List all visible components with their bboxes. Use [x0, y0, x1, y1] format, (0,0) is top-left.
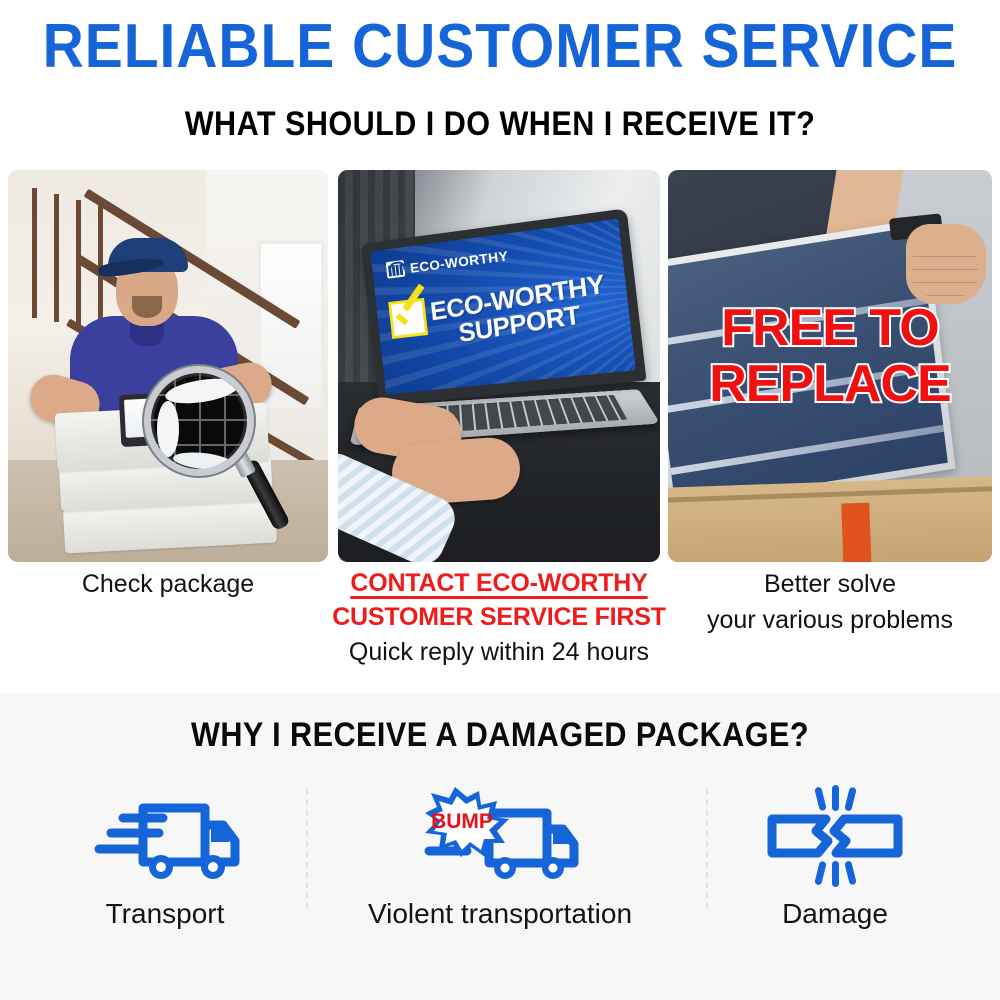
fast-truck-icon — [85, 785, 245, 897]
finger-lines — [912, 244, 978, 296]
cap-icon — [108, 238, 188, 272]
carton-edge — [668, 486, 992, 503]
caption-free-replace: Better solve your various problems — [668, 566, 992, 638]
damage-reason-damage: Damage — [682, 785, 988, 985]
caption-red-line-2: CUSTOMER SERVICE FIRST — [332, 600, 666, 634]
baluster — [32, 188, 37, 318]
promo-infographic: RELIABLE CUSTOMER SERVICE WHAT SHOULD I … — [0, 0, 1000, 1000]
step-image-check-package — [8, 170, 328, 562]
panel-busbar — [671, 425, 944, 475]
magnifier-icon — [144, 366, 254, 476]
checkmark-icon — [388, 298, 428, 339]
truck-bump-icon: BUMP — [405, 785, 595, 897]
caption-check-package: Check package — [8, 566, 328, 602]
shipping-carton — [668, 476, 992, 562]
caption-red-line-1: CONTACT ECO-WORTHY — [332, 566, 666, 600]
damage-reason-transport: Transport — [12, 785, 318, 985]
caption-contact-support: CONTACT ECO-WORTHY CUSTOMER SERVICE FIRS… — [332, 566, 666, 670]
overlay-line1: FREE TO — [668, 300, 992, 356]
page-title: RELIABLE CUSTOMER SERVICE — [40, 16, 960, 78]
lens-glare — [157, 401, 179, 457]
step-image-contact-support: ECO-WORTHY ECO-WORTHY SUPPORT — [338, 170, 660, 562]
damage-reason-label: Damage — [782, 897, 888, 931]
caption-line: your various problems — [668, 602, 992, 638]
damage-reason-violent-transportation: BUMP Violent transportation — [347, 785, 653, 985]
free-replace-overlay: FREE TO REPLACE — [668, 300, 992, 412]
baluster — [54, 194, 59, 322]
bump-badge-text: BUMP — [431, 810, 493, 833]
beard — [132, 296, 162, 318]
laptop-lid: ECO-WORTHY ECO-WORTHY SUPPORT — [361, 208, 646, 406]
solar-panel-logo-icon — [386, 260, 406, 279]
broken-box-icon — [760, 785, 910, 897]
carton-tape — [841, 503, 871, 562]
laptop-icon: ECO-WORTHY ECO-WORTHY SUPPORT — [364, 226, 640, 476]
damage-section-title: WHY I RECEIVE A DAMAGED PACKAGE? — [50, 715, 950, 755]
damage-reasons-section: WHY I RECEIVE A DAMAGED PACKAGE? — [0, 693, 1000, 1000]
magnifier-lens — [144, 366, 254, 476]
caption-line-3: Quick reply within 24 hours — [332, 634, 666, 670]
steps-gallery: ECO-WORTHY ECO-WORTHY SUPPORT — [0, 170, 1000, 562]
damage-reasons-list: Transport — [0, 785, 1000, 985]
damage-reason-label: Violent transportation — [368, 897, 632, 931]
caption-line: Better solve — [668, 566, 992, 602]
caption-line: Check package — [8, 566, 328, 602]
overlay-line2: REPLACE — [668, 356, 992, 412]
page-subtitle: WHAT SHOULD I DO WHEN I RECEIVE IT? — [50, 104, 950, 144]
damage-reason-label: Transport — [106, 897, 225, 931]
step-captions: Check package CONTACT ECO-WORTHY CUSTOME… — [0, 566, 1000, 690]
laptop-screen: ECO-WORTHY ECO-WORTHY SUPPORT — [370, 219, 635, 395]
step-image-free-replace: FREE TO REPLACE — [668, 170, 992, 562]
